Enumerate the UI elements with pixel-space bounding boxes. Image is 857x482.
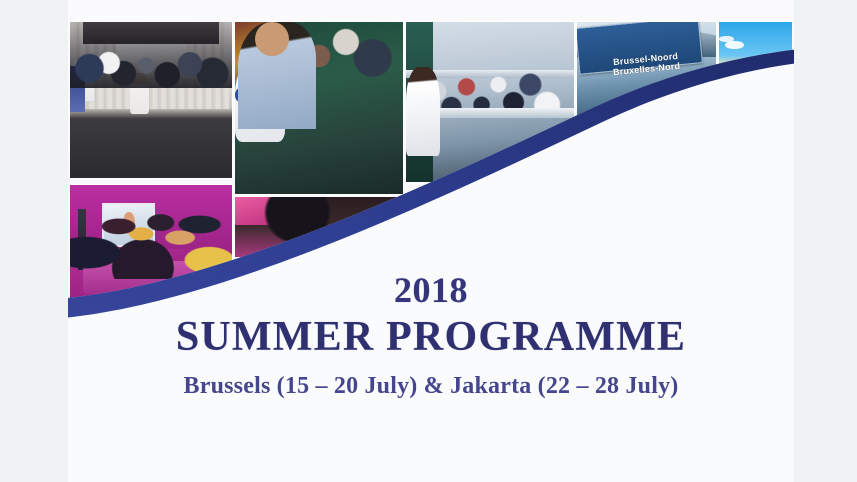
tiered-hall-photo [406, 22, 574, 182]
poster-root: Brussel-Noord Bruxelles-Nord [0, 0, 857, 482]
year-heading: 2018 [68, 272, 794, 308]
group-discussion-photo [235, 197, 403, 257]
locations-dates-subtitle: Brussels (15 – 20 July) & Jakarta (22 – … [68, 374, 794, 398]
page-title: SUMMER PROGRAMME [68, 316, 794, 358]
workshop-handshake-photo [235, 22, 403, 194]
lecture-room-photo [70, 22, 232, 178]
blue-sky-photo [719, 22, 792, 84]
station-sign-photo: Brussel-Noord Bruxelles-Nord [577, 22, 716, 120]
poster-text-block: 2018 SUMMER PROGRAMME Brussels (15 – 20 … [68, 272, 794, 398]
poster-paper: Brussel-Noord Bruxelles-Nord [68, 0, 794, 482]
